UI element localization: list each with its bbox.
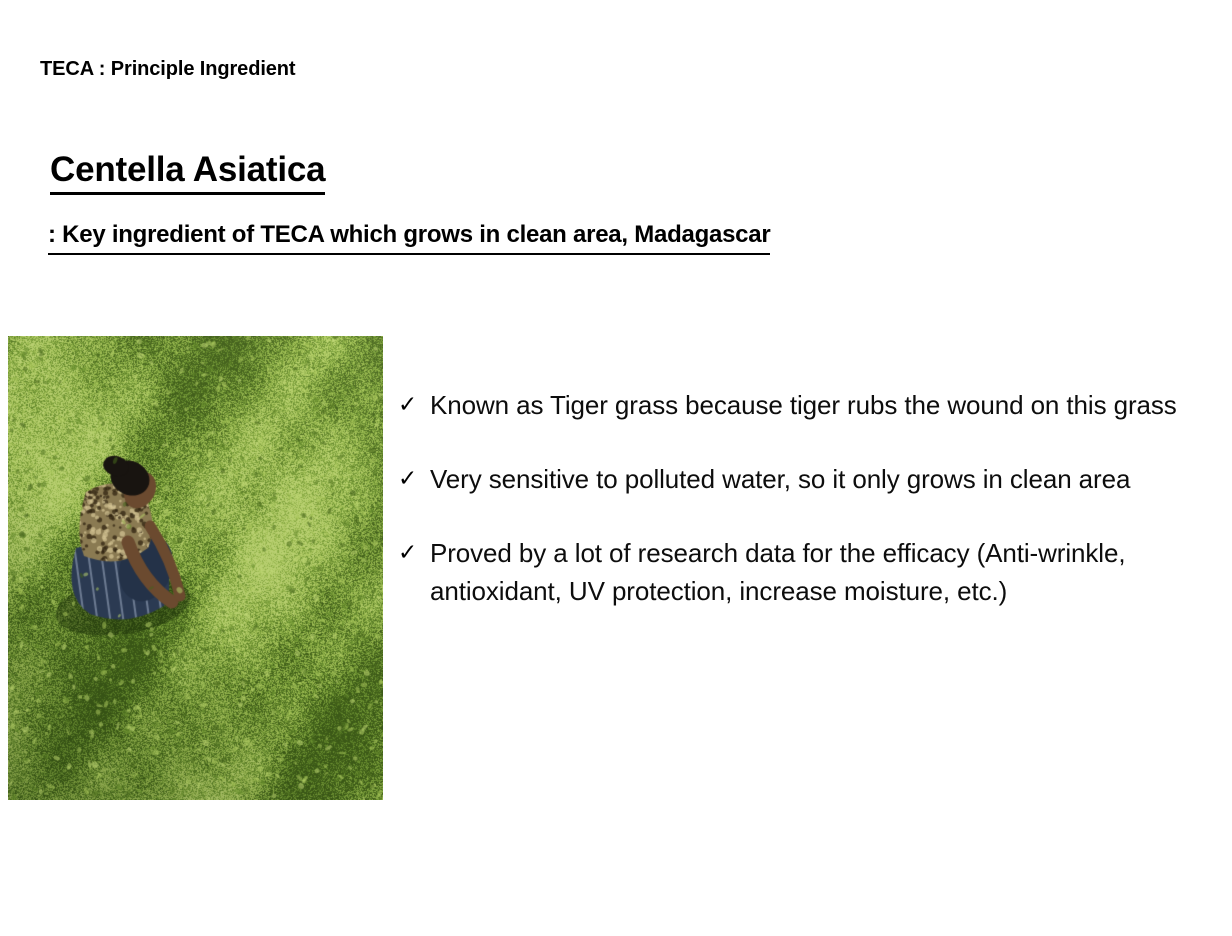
centella-field-photo <box>8 336 383 800</box>
checkmark-icon: ✓ <box>396 460 430 498</box>
checkmark-icon: ✓ <box>396 386 430 424</box>
list-item: ✓ Very sensitive to polluted water, so i… <box>396 460 1228 498</box>
checkmark-icon: ✓ <box>396 534 430 572</box>
bullet-list: ✓ Known as Tiger grass because tiger rub… <box>396 386 1228 610</box>
list-item: ✓ Known as Tiger grass because tiger rub… <box>396 386 1228 424</box>
list-item-label: Known as Tiger grass because tiger rubs … <box>430 386 1228 424</box>
list-item-label: Very sensitive to polluted water, so it … <box>430 460 1228 498</box>
page-title: Centella Asiatica <box>50 150 325 195</box>
slide-canvas: TECA : Principle Ingredient Centella Asi… <box>0 0 1232 936</box>
list-item: ✓ Proved by a lot of research data for t… <box>396 534 1228 610</box>
header-label: TECA : Principle Ingredient <box>40 57 295 81</box>
page-subtitle: : Key ingredient of TECA which grows in … <box>48 221 770 255</box>
centella-field-photo-canvas <box>8 336 383 800</box>
list-item-label: Proved by a lot of research data for the… <box>430 534 1228 610</box>
